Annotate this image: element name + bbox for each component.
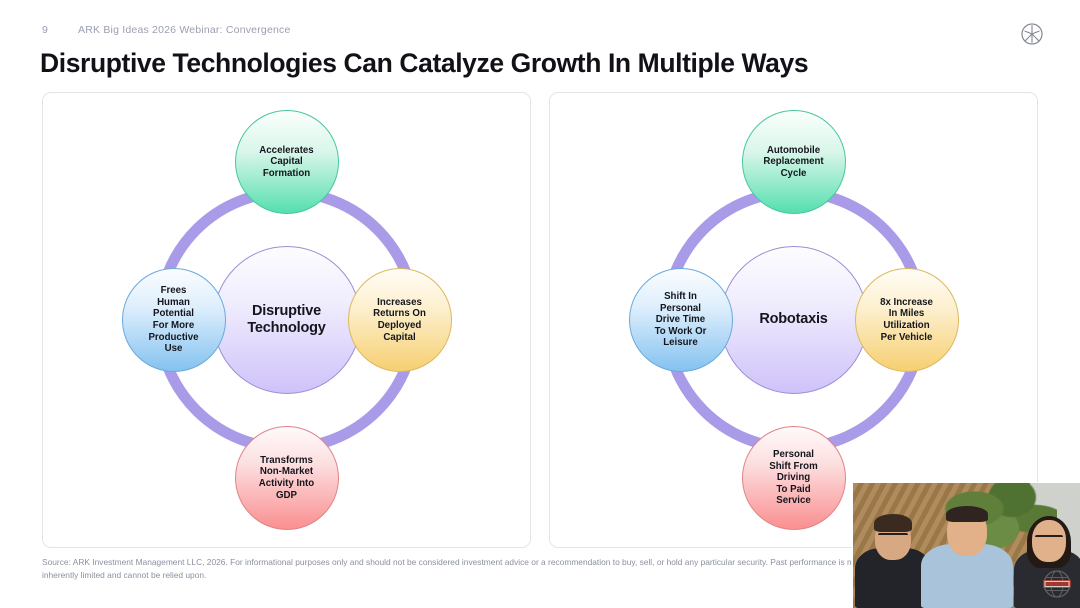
webcam-video-overlay[interactable] xyxy=(852,482,1080,608)
slide: 9 ARK Big Ideas 2026 Webinar: Convergenc… xyxy=(0,0,1080,608)
node-bottom-left-panel-label: TransformsNon-MarketActivity IntoGDP xyxy=(251,455,322,502)
panel-robotaxis: Robotaxis AutomobileReplacementCycle Shi… xyxy=(549,92,1038,548)
presenter-left-hair xyxy=(874,514,912,532)
presenter-right-head xyxy=(1032,520,1066,562)
presenter-center-hair xyxy=(946,506,988,522)
ark-circle-logo-icon xyxy=(1020,22,1044,46)
center-node-left-label: DisruptiveTechnology xyxy=(239,303,333,338)
diagram-panels: DisruptiveTechnology AcceleratesCapitalF… xyxy=(42,92,1038,548)
presenter-left xyxy=(855,510,931,608)
node-left-right-panel[interactable]: Shift InPersonalDrive TimeTo Work OrLeis… xyxy=(629,268,733,372)
panel-disruptive-technology: DisruptiveTechnology AcceleratesCapitalF… xyxy=(42,92,531,548)
center-node-right[interactable]: Robotaxis xyxy=(720,246,868,394)
center-node-left[interactable]: DisruptiveTechnology xyxy=(213,246,361,394)
presenter-center xyxy=(921,498,1013,608)
slide-header: 9 ARK Big Ideas 2026 Webinar: Convergenc… xyxy=(42,24,291,36)
node-bottom-right-panel[interactable]: PersonalShift FromDrivingTo PaidService xyxy=(742,426,846,530)
page-number: 9 xyxy=(42,24,48,36)
node-bottom-right-panel-label: PersonalShift FromDrivingTo PaidService xyxy=(761,449,825,507)
node-bottom-left-panel[interactable]: TransformsNon-MarketActivity IntoGDP xyxy=(235,426,339,530)
wheel-diagram-left: DisruptiveTechnology AcceleratesCapitalF… xyxy=(122,110,452,530)
node-top-left-panel[interactable]: AcceleratesCapitalFormation xyxy=(235,110,339,214)
page-title: Disruptive Technologies Can Catalyze Gro… xyxy=(40,48,808,79)
node-right-right-panel-label: 8x IncreaseIn MilesUtilizationPer Vehicl… xyxy=(872,297,941,344)
node-top-right-panel[interactable]: AutomobileReplacementCycle xyxy=(742,110,846,214)
node-right-left-panel[interactable]: IncreasesReturns OnDeployedCapital xyxy=(348,268,452,372)
deck-name: ARK Big Ideas 2026 Webinar: Convergence xyxy=(78,24,290,36)
node-right-left-panel-label: IncreasesReturns OnDeployedCapital xyxy=(365,297,434,344)
glasses-icon xyxy=(878,533,908,538)
node-left-right-panel-label: Shift InPersonalDrive TimeTo Work OrLeis… xyxy=(647,291,715,349)
glasses-icon xyxy=(1035,535,1063,540)
wheel-diagram-right: Robotaxis AutomobileReplacementCycle Shi… xyxy=(629,110,959,530)
node-top-right-panel-label: AutomobileReplacementCycle xyxy=(755,145,831,180)
node-top-left-panel-label: AcceleratesCapitalFormation xyxy=(251,145,321,180)
node-right-right-panel[interactable]: 8x IncreaseIn MilesUtilizationPer Vehicl… xyxy=(855,268,959,372)
center-node-right-label: Robotaxis xyxy=(751,311,835,328)
node-left-left-panel-label: FreesHumanPotentialFor MoreProductiveUse xyxy=(140,285,206,355)
globe-watermark-icon xyxy=(1038,564,1076,604)
node-left-left-panel[interactable]: FreesHumanPotentialFor MoreProductiveUse xyxy=(122,268,226,372)
